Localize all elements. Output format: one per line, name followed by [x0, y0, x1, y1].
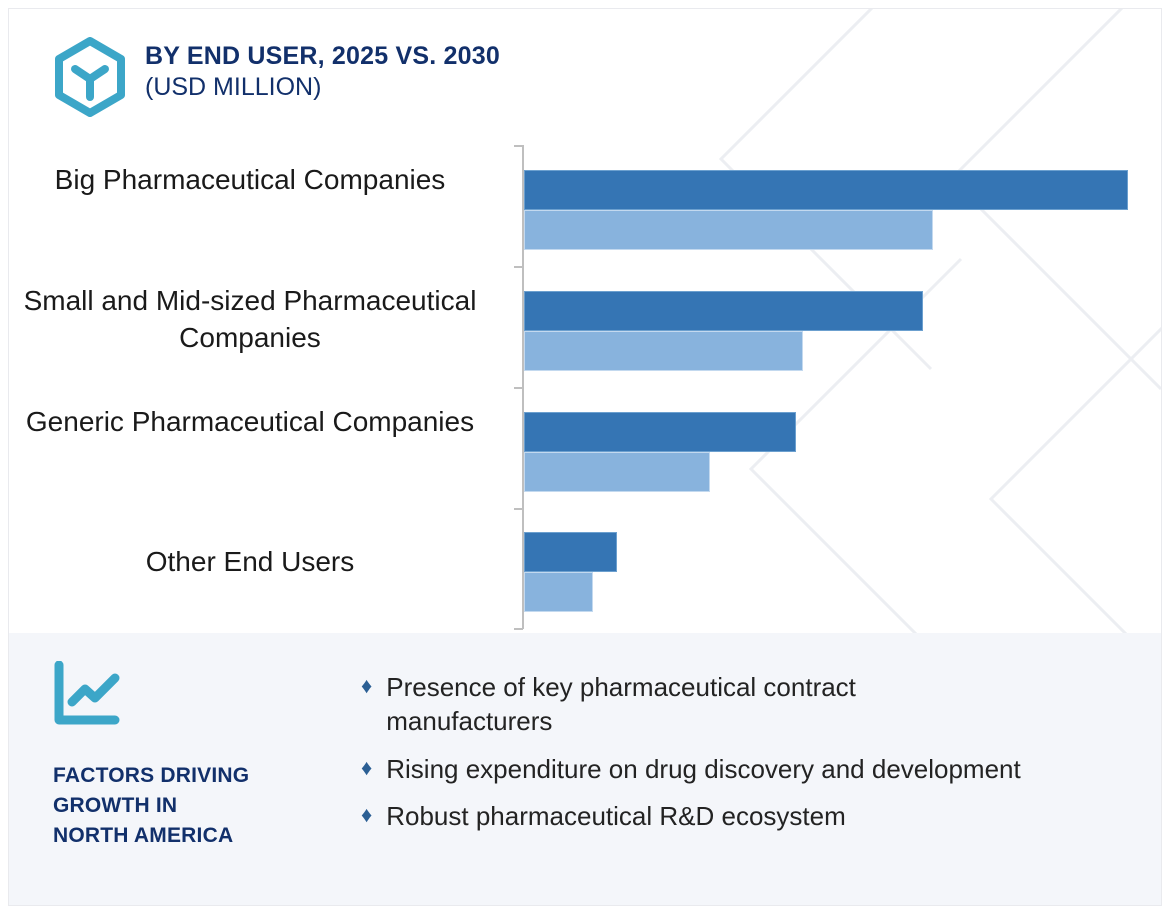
factors-title-line-3: NORTH AMERICA — [53, 821, 353, 851]
category-label-other-end-users: Other End Users — [15, 543, 485, 580]
list-item-text: Presence of key pharmaceutical contract … — [386, 671, 1026, 739]
plot-area — [514, 139, 1162, 629]
list-item: ♦ Rising expenditure on drug discovery a… — [361, 753, 1101, 787]
category-label-small-and-mid-sized-pharmaceutical-companies: Small and Mid-sized Pharmaceutical Compa… — [15, 282, 485, 356]
bar-generic-pharmaceutical-companies-2030 — [524, 412, 796, 452]
diamond-bullet-icon: ♦ — [361, 754, 372, 782]
axis-tick — [514, 387, 523, 389]
factors-title-line-1: FACTORS DRIVING — [53, 761, 353, 791]
bar-small-and-mid-sized-pharmaceutical-companies-2030 — [524, 291, 923, 331]
factors-title: FACTORS DRIVING GROWTH IN NORTH AMERICA — [53, 761, 353, 850]
factors-bullet-list: ♦ Presence of key pharmaceutical contrac… — [361, 671, 1101, 848]
factors-panel-left: FACTORS DRIVING GROWTH IN NORTH AMERICA — [53, 661, 353, 850]
list-item-text: Rising expenditure on drug discovery and… — [386, 753, 1021, 787]
axis-tick — [514, 628, 523, 630]
hexagon-y-icon — [53, 37, 127, 117]
page-title: BY END USER, 2025 VS. 2030 — [145, 41, 500, 72]
category-axis-labels: Big Pharmaceutical Companies Small and M… — [19, 139, 507, 629]
bar-generic-pharmaceutical-companies-2025 — [524, 452, 710, 492]
category-label-big-pharmaceutical-companies: Big Pharmaceutical Companies — [15, 161, 485, 198]
axis-tick — [514, 266, 523, 268]
chart-header: BY END USER, 2025 VS. 2030 (USD MILLION) — [53, 35, 500, 117]
bar-other-end-users-2025 — [524, 572, 593, 612]
axis-tick — [514, 508, 523, 510]
line-chart-icon — [53, 661, 125, 727]
diamond-bullet-icon: ♦ — [361, 672, 372, 700]
factors-panel: FACTORS DRIVING GROWTH IN NORTH AMERICA … — [9, 633, 1162, 906]
bar-big-pharmaceutical-companies-2030 — [524, 170, 1128, 210]
factors-title-line-2: GROWTH IN — [53, 791, 353, 821]
axis-tick — [514, 145, 523, 147]
diamond-bullet-icon: ♦ — [361, 801, 372, 829]
page-subtitle: (USD MILLION) — [145, 72, 500, 103]
list-item: ♦ Presence of key pharmaceutical contrac… — [361, 671, 1101, 739]
bar-big-pharmaceutical-companies-2025 — [524, 210, 933, 250]
bar-chart: Big Pharmaceutical Companies Small and M… — [9, 139, 1162, 634]
bar-small-and-mid-sized-pharmaceutical-companies-2025 — [524, 331, 803, 371]
list-item: ♦ Robust pharmaceutical R&D ecosystem — [361, 800, 1101, 834]
bar-other-end-users-2030 — [524, 532, 617, 572]
category-label-generic-pharmaceutical-companies: Generic Pharmaceutical Companies — [15, 403, 485, 440]
list-item-text: Robust pharmaceutical R&D ecosystem — [386, 800, 846, 834]
infographic-card: BY END USER, 2025 VS. 2030 (USD MILLION)… — [8, 8, 1162, 906]
